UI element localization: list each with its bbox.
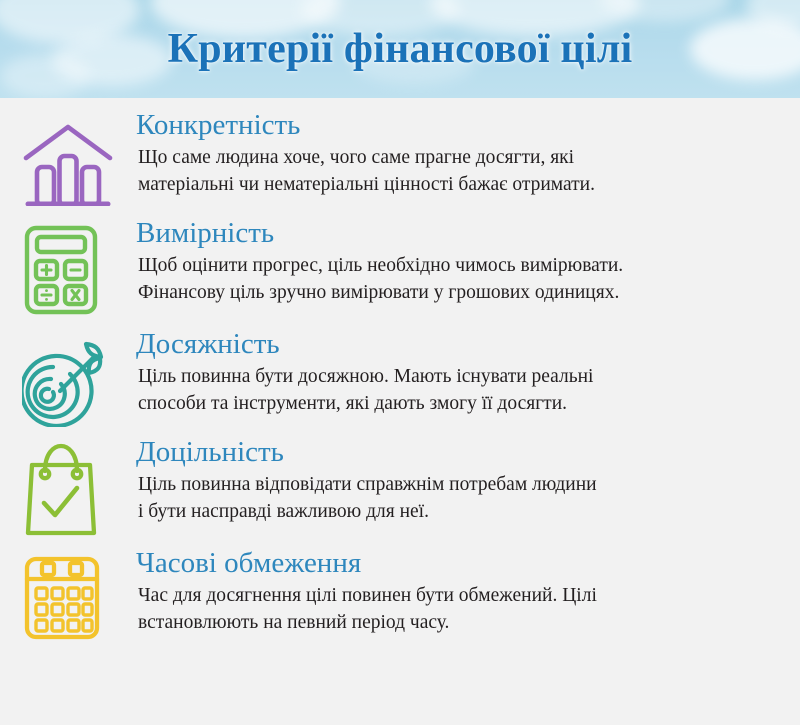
criterion-body-line: Щоб оцінити прогрес, ціль необхідно чимо… bbox=[138, 253, 780, 280]
criterion-item-measurability: Вимірність Щоб оцінити прогрес, ціль нео… bbox=[0, 218, 800, 316]
icon-cell bbox=[22, 329, 134, 427]
criterion-title: Вимірність bbox=[136, 218, 780, 249]
criterion-body-line: Ціль повинна відповідати справжнім потре… bbox=[138, 472, 780, 499]
criterion-title: Конкретність bbox=[136, 110, 780, 141]
criterion-body-line: матеріальні чи нематеріальні цінності ба… bbox=[138, 172, 780, 199]
criterion-body-line: способи та інструменти, які дають змогу … bbox=[138, 391, 780, 418]
target-dart-icon bbox=[22, 335, 112, 427]
text-cell: Вимірність Щоб оцінити прогрес, ціль нео… bbox=[134, 218, 800, 307]
icon-cell bbox=[22, 548, 134, 642]
criterion-title: Часові обмеження bbox=[136, 548, 780, 579]
criterion-body-line: встановлюють на певний період часу. bbox=[138, 610, 780, 637]
shopping-bag-check-icon bbox=[22, 441, 104, 537]
criterion-body: Ціль повинна відповідати справжнім потре… bbox=[138, 472, 780, 526]
header-banner: Критерії фінансової цілі bbox=[0, 0, 800, 98]
criterion-body-line: Фінансову ціль зручно вимірювати у грошо… bbox=[138, 280, 780, 307]
text-cell: Доцільність Ціль повинна відповідати спр… bbox=[134, 437, 800, 526]
criterion-body: Щоб оцінити прогрес, ціль необхідно чимо… bbox=[138, 253, 780, 307]
bank-building-icon bbox=[22, 118, 114, 206]
criterion-body-line: Що саме людина хоче, чого саме прагне до… bbox=[138, 145, 780, 172]
criterion-item-time-bound: Часові обмеження Час для досягнення цілі… bbox=[0, 548, 800, 642]
criterion-title: Досяжність bbox=[136, 329, 780, 360]
criterion-title: Доцільність bbox=[136, 437, 780, 468]
criterion-body-line: Ціль повинна бути досяжною. Мають існува… bbox=[138, 364, 780, 391]
calendar-icon bbox=[22, 554, 102, 642]
criteria-list: Конкретність Що саме людина хоче, чого с… bbox=[0, 110, 800, 642]
criterion-body-line: Час для досягнення цілі повинен бути обм… bbox=[138, 583, 780, 610]
criterion-body: Час для досягнення цілі повинен бути обм… bbox=[138, 583, 780, 637]
criterion-item-relevance: Доцільність Ціль повинна відповідати спр… bbox=[0, 437, 800, 537]
calculator-icon bbox=[22, 224, 100, 316]
criterion-item-achievability: Досяжність Ціль повинна бути досяжною. М… bbox=[0, 329, 800, 427]
icon-cell bbox=[22, 437, 134, 537]
page-title: Критерії фінансової цілі bbox=[0, 0, 800, 98]
icon-cell bbox=[22, 110, 134, 206]
criterion-body: Що саме людина хоче, чого саме прагне до… bbox=[138, 145, 780, 199]
criterion-item-specificity: Конкретність Що саме людина хоче, чого с… bbox=[0, 110, 800, 206]
criterion-body-line: і бути насправді важливою для неї. bbox=[138, 499, 780, 526]
icon-cell bbox=[22, 218, 134, 316]
text-cell: Часові обмеження Час для досягнення цілі… bbox=[134, 548, 800, 637]
criterion-body: Ціль повинна бути досяжною. Мають існува… bbox=[138, 364, 780, 418]
text-cell: Досяжність Ціль повинна бути досяжною. М… bbox=[134, 329, 800, 418]
text-cell: Конкретність Що саме людина хоче, чого с… bbox=[134, 110, 800, 199]
